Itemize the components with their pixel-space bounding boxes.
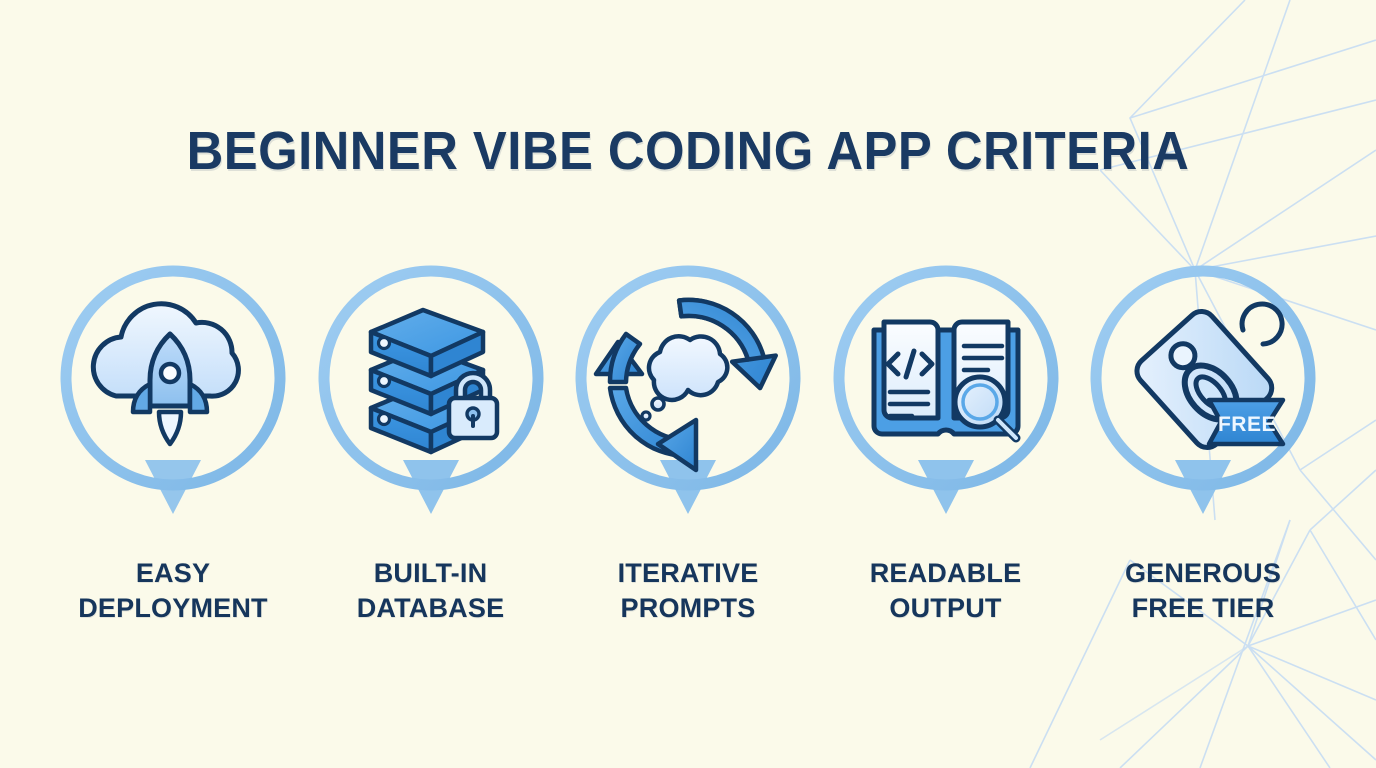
criteria-card-readable-output[interactable]: READABLE OUTPUT — [830, 262, 1062, 626]
card-label: ITERATIVE PROMPTS — [618, 556, 759, 626]
refresh-cycle-thought-bubble-icon — [596, 288, 780, 470]
open-book-code-magnifier-icon — [874, 322, 1018, 438]
criteria-card-easy-deployment[interactable]: EASY DEPLOYMENT — [57, 262, 289, 626]
pin-badge — [830, 262, 1062, 530]
cloud-rocket-icon — [93, 304, 238, 444]
pin-badge — [57, 262, 289, 530]
criteria-card-built-in-database[interactable]: BUILT-IN DATABASE — [315, 262, 547, 626]
page-title: BEGINNER VIBE CODING APP CRITERIA — [41, 122, 1334, 180]
pin-badge: FREE — [1087, 262, 1319, 530]
price-tag-free-banner-icon: FREE — [1131, 304, 1283, 453]
criteria-card-generous-free-tier[interactable]: FREE GENEROUS FREE TIER — [1087, 262, 1319, 626]
card-label: READABLE OUTPUT — [870, 556, 1022, 626]
free-banner: FREE — [1209, 400, 1283, 444]
infographic-canvas: BEGINNER VIBE CODING APP CRITERIA — [0, 0, 1376, 768]
pin-badge — [572, 262, 804, 530]
card-label: GENEROUS FREE TIER — [1125, 556, 1281, 626]
pin-badge — [315, 262, 547, 530]
database-lock-icon — [371, 310, 497, 452]
free-banner-text: FREE — [1218, 413, 1276, 436]
criteria-card-row: EASY DEPLOYMENT — [57, 262, 1319, 626]
card-label: EASY DEPLOYMENT — [78, 556, 268, 626]
card-label: BUILT-IN DATABASE — [357, 556, 505, 626]
criteria-card-iterative-prompts[interactable]: ITERATIVE PROMPTS — [572, 262, 804, 626]
